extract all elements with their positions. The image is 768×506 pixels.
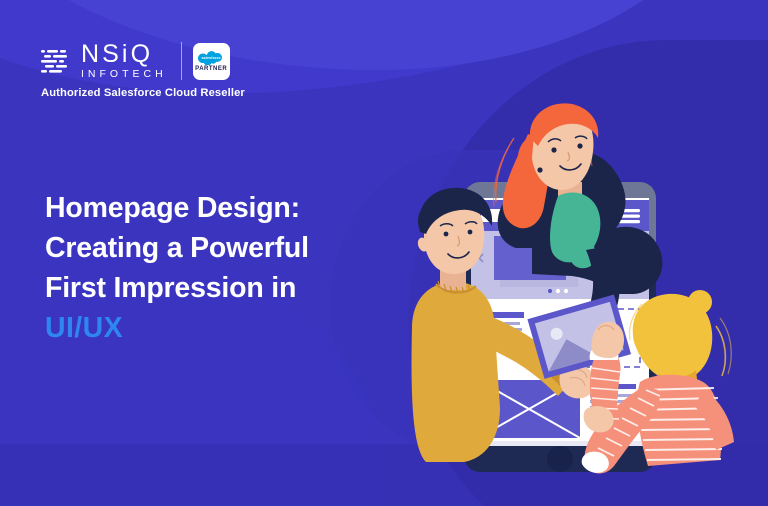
hero-illustration xyxy=(382,78,768,498)
headline-line-1: Homepage Design: xyxy=(45,188,405,228)
logo-brand-text: NSiQ xyxy=(81,42,168,67)
headline-line-2: Creating a Powerful xyxy=(45,228,405,268)
tablet-home-button xyxy=(547,446,573,472)
brand-tagline: Authorized Salesforce Cloud Reseller xyxy=(41,87,245,99)
eye-left xyxy=(551,147,556,152)
hero-headline: Homepage Design: Creating a Powerful Fir… xyxy=(45,188,405,348)
salesforce-partner-label: PARTNER xyxy=(195,66,227,72)
hair-bun xyxy=(688,290,712,314)
earring xyxy=(537,167,542,172)
brand-logo-block[interactable]: NSiQ INFOTECH salesforce PARTNER Authori… xyxy=(41,42,245,99)
carousel-dots xyxy=(548,289,568,293)
headline-accent-uiux: UI/UX xyxy=(45,308,405,348)
logo-divider xyxy=(181,42,182,80)
logo-wordmark: NSiQ INFOTECH xyxy=(81,42,168,80)
salesforce-partner-badge[interactable]: salesforce PARTNER xyxy=(193,43,230,80)
headline-line-3: First Impression in xyxy=(45,268,405,308)
logo-subbrand-text: INFOTECH xyxy=(81,69,168,80)
eye-right xyxy=(577,143,582,148)
logo-row: NSiQ INFOTECH salesforce PARTNER xyxy=(41,42,245,80)
illustration-svg xyxy=(382,78,768,498)
nsiq-bars-mark-icon xyxy=(41,47,75,75)
marketing-banner: NSiQ INFOTECH salesforce PARTNER Authori… xyxy=(0,0,768,506)
salesforce-cloud-icon: salesforce xyxy=(198,50,224,65)
salesforce-cloud-label: salesforce xyxy=(202,56,221,60)
